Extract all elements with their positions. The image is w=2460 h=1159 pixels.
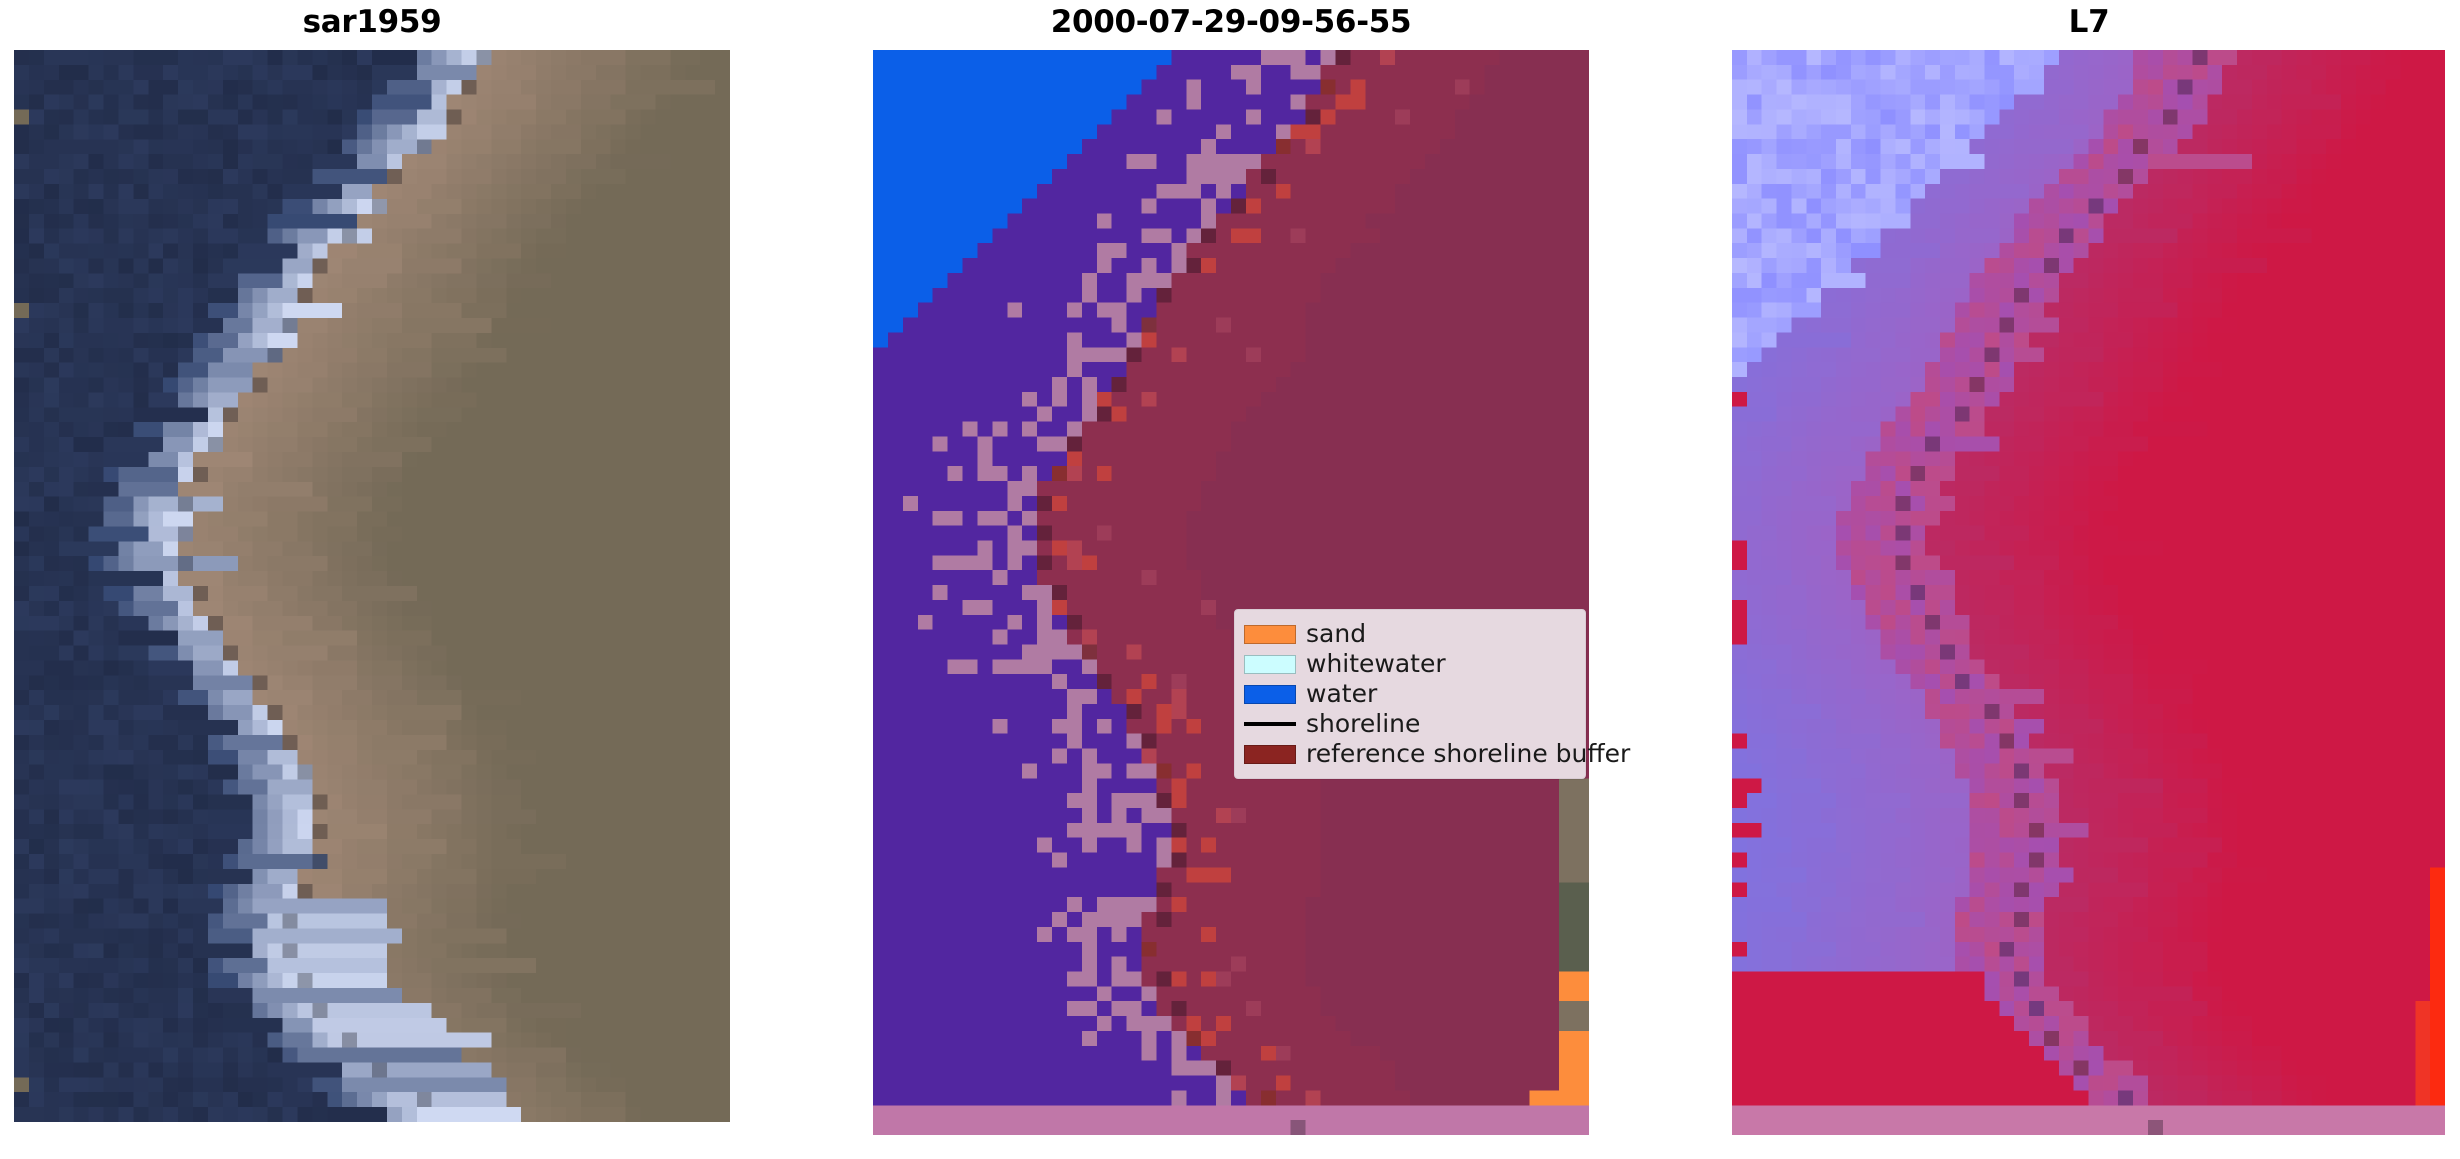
legend-item-sand[interactable]: sand — [1244, 619, 1575, 649]
panel-l7: L7 — [1718, 0, 2460, 1159]
legend-label-water: water — [1306, 679, 1377, 709]
water-swatch-icon — [1244, 685, 1296, 704]
legend-item-whitewater[interactable]: whitewater — [1244, 649, 1575, 679]
image-axes-sar1959[interactable] — [14, 50, 730, 1122]
legend-swatch-wrap-whitewater — [1244, 649, 1306, 679]
legend-item-reference-shoreline-buffer[interactable]: reference shoreline buffer — [1244, 739, 1575, 769]
image-axes-l7[interactable] — [1732, 50, 2445, 1135]
legend-label-sand: sand — [1306, 619, 1366, 649]
reference-shoreline-buffer-swatch-icon — [1244, 745, 1296, 764]
satellite-image-sar1959 — [14, 50, 730, 1122]
classification-image — [873, 50, 1589, 1135]
image-axes-classification[interactable] — [873, 50, 1589, 1135]
sand-swatch-icon — [1244, 625, 1296, 644]
legend-swatch-wrap-shoreline — [1244, 709, 1306, 739]
panel-title-classification: 2000-07-29-09-56-55 — [859, 4, 1603, 40]
figure-root: sar1959 2000-07-29-09-56-55 L7 — [0, 0, 2460, 1159]
legend: sand whitewater water shoreline referenc — [1234, 609, 1586, 779]
panel-classification: 2000-07-29-09-56-55 — [859, 0, 1603, 1159]
false-colour-image-l7 — [1732, 50, 2445, 1135]
legend-label-reference-shoreline-buffer: reference shoreline buffer — [1306, 739, 1630, 769]
panel-title-sar1959: sar1959 — [0, 4, 744, 40]
shoreline-line-icon — [1244, 722, 1296, 726]
legend-swatch-wrap-sand — [1244, 619, 1306, 649]
legend-label-shoreline: shoreline — [1306, 709, 1420, 739]
whitewater-swatch-icon — [1244, 655, 1296, 674]
panel-title-l7: L7 — [1718, 4, 2460, 40]
legend-item-shoreline[interactable]: shoreline — [1244, 709, 1575, 739]
legend-swatch-wrap-reference-buffer — [1244, 739, 1306, 769]
legend-label-whitewater: whitewater — [1306, 649, 1446, 679]
panel-sar1959: sar1959 — [0, 0, 744, 1159]
legend-item-water[interactable]: water — [1244, 679, 1575, 709]
legend-swatch-wrap-water — [1244, 679, 1306, 709]
